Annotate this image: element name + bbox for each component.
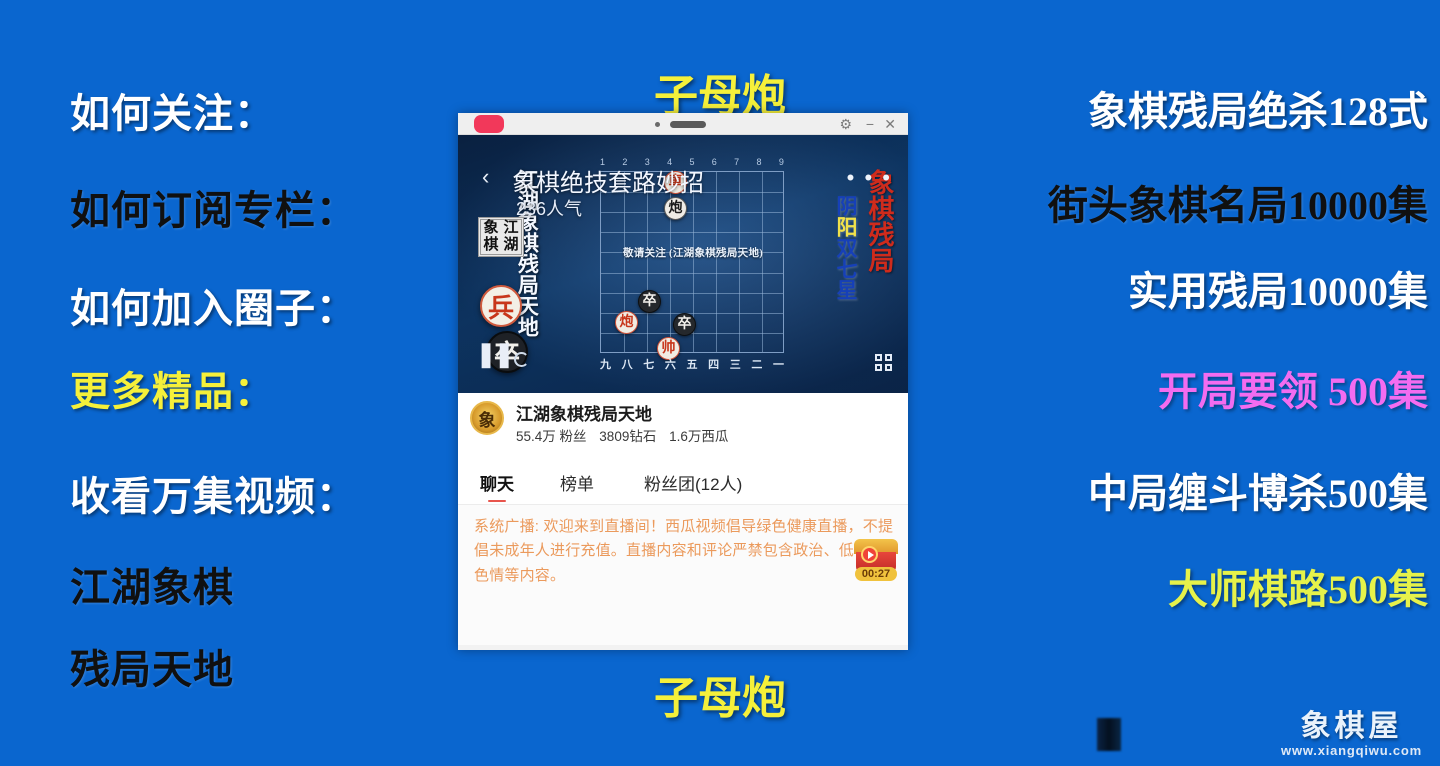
tab-bar: 聊天 榜单 粉丝团(12人) [458, 465, 908, 505]
more-options-icon[interactable]: • • • [847, 165, 892, 191]
gift-countdown-timer: 00:27 [855, 567, 897, 581]
minimize-icon[interactable]: − [866, 116, 874, 132]
tab-fanclub[interactable]: 粉丝团(12人) [644, 470, 742, 495]
right-item-0: 象棋残局绝杀128式 [1088, 92, 1428, 132]
seal-char-0: 象 [481, 220, 501, 237]
titlebar-pill [670, 121, 706, 128]
file-bot-1: 八 [622, 356, 633, 372]
pause-icon[interactable]: ❚❚ [476, 340, 512, 369]
board-file-labels-bottom: 九 八 七 六 五 四 三 二 一 [600, 356, 784, 372]
file-bot-7: 二 [751, 356, 762, 372]
right-item-4: 中局缠斗博杀500集 [1088, 474, 1428, 514]
watermark: 象棋屋 www.xiangqiwu.com [1281, 701, 1422, 758]
file-bot-3: 六 [665, 356, 676, 372]
left-item-1: 如何订阅专栏： [70, 191, 357, 231]
system-broadcast-message: 系统广播: 欢迎来到直播间！西瓜视频倡导绿色健康直播，不提倡未成年人进行充值。直… [474, 515, 894, 588]
seal-logo: 象 江 棋 湖 [478, 217, 524, 257]
file-top-7: 8 [757, 157, 762, 167]
watermark-url: www.xiangqiwu.com [1281, 743, 1422, 758]
play-icon [861, 546, 878, 563]
live-video-area[interactable]: ‹ 象棋绝技套路妙招 236人气 • • • 象 江 棋 湖 江湖象棋残局天地 … [458, 135, 908, 393]
file-bot-0: 九 [600, 356, 611, 372]
board-piece-red-pao: 炮 [615, 311, 638, 334]
tab-chat[interactable]: 聊天 [480, 470, 514, 495]
left-item-0: 如何关注： [70, 94, 275, 134]
stat-followers: 55.4万 粉丝 [516, 429, 587, 444]
back-icon[interactable]: ‹ [482, 164, 489, 190]
vertical-text-right-blue: 阴阳双七星 [835, 195, 856, 300]
floating-piece-bing: 兵 [480, 285, 522, 327]
file-bot-6: 三 [730, 356, 741, 372]
file-bot-5: 四 [708, 356, 719, 372]
board-river-text: 敬请关注 (江湖象棋残局天地) [602, 245, 784, 260]
board-piece-black-zu-1: 卒 [638, 290, 661, 313]
chat-panel[interactable]: 系统广播: 欢迎来到直播间！西瓜视频倡导绿色健康直播，不提倡未成年人进行充值。直… [458, 505, 908, 645]
close-icon[interactable]: ✕ [884, 116, 896, 132]
board-piece-black-zu-2: 卒 [673, 313, 696, 336]
right-item-2: 实用残局10000集 [1128, 272, 1428, 312]
stat-diamonds: 3809钻石 [599, 429, 656, 444]
window-titlebar: ⚙ − ✕ [458, 113, 908, 135]
right-item-5: 大师棋路500集 [1168, 570, 1428, 610]
streamer-name: 江湖象棋残局天地 [516, 400, 652, 425]
watermark-title: 象棋屋 [1281, 701, 1422, 745]
left-item-3: 更多精品： [70, 372, 275, 412]
file-top-6: 7 [734, 157, 739, 167]
streamer-info: 象 江湖象棋残局天地 55.4万 粉丝 3809钻石 1.6万西瓜 [458, 393, 908, 465]
file-bot-8: 一 [773, 356, 784, 372]
live-room-title: 象棋绝技套路妙招 [512, 163, 704, 198]
fullscreen-icon[interactable] [875, 354, 892, 371]
refresh-icon[interactable] [514, 352, 529, 367]
seal-char-3: 湖 [501, 237, 521, 254]
file-bot-2: 七 [643, 356, 654, 372]
streamer-stats: 55.4万 粉丝 3809钻石 1.6万西瓜 [516, 425, 737, 445]
live-popularity-count: 236人气 [516, 195, 582, 221]
seal-char-1: 江 [501, 220, 521, 237]
dark-artifact [1097, 718, 1121, 751]
right-item-1: 街头象棋名局10000集 [1048, 186, 1428, 226]
file-bot-4: 五 [687, 356, 698, 372]
left-item-6: 残局天地 [70, 650, 234, 690]
file-top-5: 6 [712, 157, 717, 167]
left-item-4: 收看万集视频： [70, 477, 357, 517]
file-top-8: 9 [779, 157, 784, 167]
right-item-3: 开局要领 500集 [1158, 372, 1428, 412]
seal-char-2: 棋 [481, 237, 501, 254]
board-piece-black-pao: 炮 [664, 197, 687, 220]
avatar[interactable]: 象 [470, 401, 504, 435]
tab-ranking[interactable]: 榜单 [560, 470, 594, 495]
gear-icon[interactable]: ⚙ [839, 116, 852, 132]
titlebar-dot [655, 122, 660, 127]
left-item-5: 江湖象棋 [70, 568, 234, 608]
left-item-2: 如何加入圈子： [70, 289, 357, 329]
app-icon [474, 115, 504, 133]
gift-box-icon[interactable]: 00:27 [854, 539, 898, 579]
app-window: ⚙ − ✕ ‹ 象棋绝技套路妙招 236人气 • • • 象 江 棋 湖 江湖象… [458, 113, 908, 650]
stat-melons: 1.6万西瓜 [669, 429, 728, 444]
